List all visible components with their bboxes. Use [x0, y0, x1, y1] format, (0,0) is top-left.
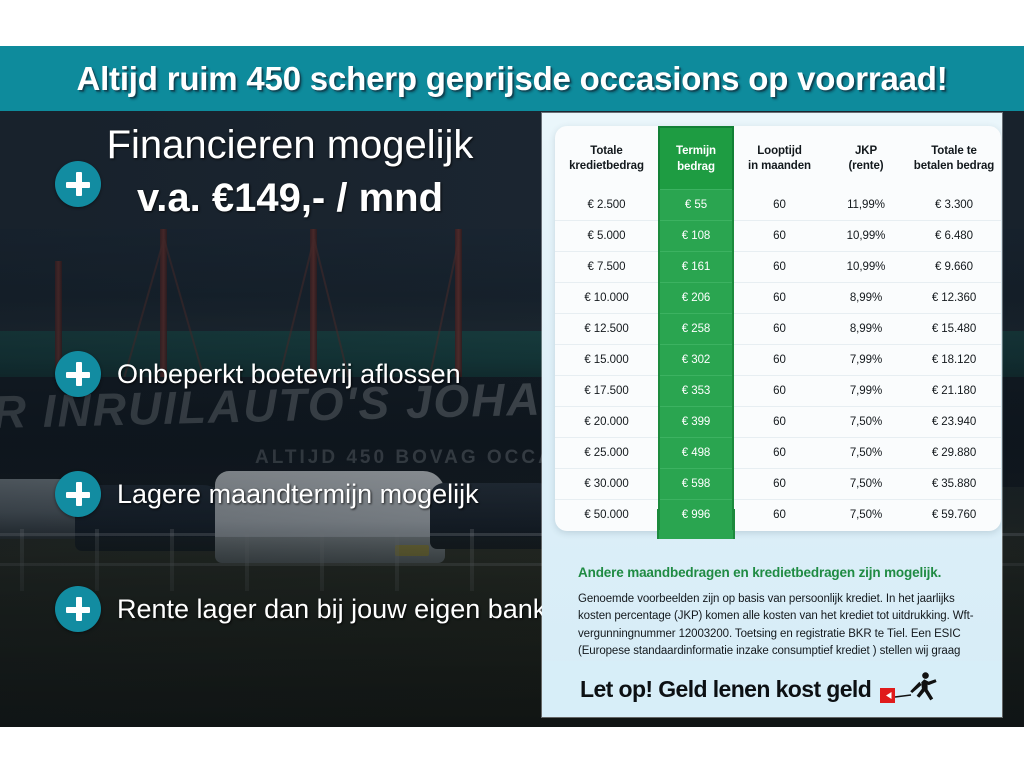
left-content-column: Financieren mogelijk v.a. €149,- / mnd O… [0, 111, 540, 727]
legal-warning-text: Let op! Geld lenen kost geld [580, 676, 871, 703]
header-line-top: Looptijd [757, 145, 802, 157]
table-row: € 2.500€ 556011,99%€ 3.300 [555, 190, 1001, 221]
table-cell: 11,99% [825, 190, 907, 221]
plus-icon [55, 586, 101, 632]
table-cell: 60 [733, 190, 825, 221]
rate-table-card: Totale kredietbedrag Termijn bedrag Loop… [555, 126, 1001, 531]
table-cell: 7,50% [825, 407, 907, 438]
cell-termijnbedrag: € 498 [659, 438, 733, 469]
cell-termijnbedrag: € 161 [659, 252, 733, 283]
plus-icon [55, 161, 101, 207]
bullet-item-aflossen: Onbeperkt boetevrij aflossen [55, 351, 461, 397]
column-header-kredietbedrag: Totale kredietbedrag [555, 127, 659, 190]
table-cell: 10,99% [825, 252, 907, 283]
table-cell: 7,99% [825, 345, 907, 376]
cell-termijnbedrag: € 258 [659, 314, 733, 345]
table-cell: € 59.760 [907, 500, 1001, 531]
table-cell: € 9.660 [907, 252, 1001, 283]
table-row: € 10.000€ 206608,99%€ 12.360 [555, 283, 1001, 314]
table-row: € 17.500€ 353607,99%€ 21.180 [555, 376, 1001, 407]
table-cell: € 23.940 [907, 407, 1001, 438]
table-cell: 7,50% [825, 469, 907, 500]
table-cell: € 29.880 [907, 438, 1001, 469]
table-cell: € 15.000 [555, 345, 659, 376]
header-line-bottom: (rente) [848, 160, 883, 172]
table-cell: € 6.480 [907, 221, 1001, 252]
header-line-bottom: bedrag [677, 161, 715, 173]
table-cell: € 50.000 [555, 500, 659, 531]
table-cell: € 30.000 [555, 469, 659, 500]
cell-termijnbedrag: € 302 [659, 345, 733, 376]
page-title: Financieren mogelijk v.a. €149,- / mnd [55, 123, 525, 222]
poster-canvas: Altijd ruim 450 scherp geprijsde occasio… [0, 0, 1024, 768]
table-cell: 60 [733, 314, 825, 345]
table-cell: 7,50% [825, 500, 907, 531]
table-cell: € 15.480 [907, 314, 1001, 345]
table-row: € 25.000€ 498607,50%€ 29.880 [555, 438, 1001, 469]
column-header-totaal: Totale te betalen bedrag [907, 127, 1001, 190]
table-cell: € 17.500 [555, 376, 659, 407]
table-cell: 60 [733, 221, 825, 252]
rate-table: Totale kredietbedrag Termijn bedrag Loop… [555, 126, 1001, 530]
table-cell: € 12.500 [555, 314, 659, 345]
cell-termijnbedrag: € 996 [659, 500, 733, 531]
table-cell: € 18.120 [907, 345, 1001, 376]
table-cell: 60 [733, 407, 825, 438]
table-cell: € 21.180 [907, 376, 1001, 407]
banner-headline: Altijd ruim 450 scherp geprijsde occasio… [76, 60, 947, 98]
header-line-top: Totale [590, 145, 622, 157]
cell-termijnbedrag: € 598 [659, 469, 733, 500]
table-cell: 10,99% [825, 221, 907, 252]
bullet-label: Lagere maandtermijn mogelijk [117, 479, 479, 510]
column-header-looptijd: Looptijd in maanden [733, 127, 825, 190]
disclaimer-title: Andere maandbedragen en kredietbedragen … [578, 565, 978, 580]
table-cell: € 25.000 [555, 438, 659, 469]
header-line-bottom: in maanden [748, 160, 811, 172]
table-cell: 60 [733, 252, 825, 283]
bullet-label: Rente lager dan bij jouw eigen bank [117, 594, 546, 625]
table-row: € 12.500€ 258608,99%€ 15.480 [555, 314, 1001, 345]
table-cell: € 35.880 [907, 469, 1001, 500]
cell-termijnbedrag: € 399 [659, 407, 733, 438]
cell-termijnbedrag: € 55 [659, 190, 733, 221]
table-cell: 60 [733, 469, 825, 500]
column-header-jkp: JKP (rente) [825, 127, 907, 190]
headline-line-2: v.a. €149,- / mnd [55, 174, 525, 222]
bottom-white-strip [0, 727, 1024, 768]
cell-termijnbedrag: € 108 [659, 221, 733, 252]
table-row: € 20.000€ 399607,50%€ 23.940 [555, 407, 1001, 438]
header-line-top: Totale te [931, 145, 977, 157]
table-cell: 8,99% [825, 314, 907, 345]
table-cell: 60 [733, 500, 825, 531]
finance-info-panel: Totale kredietbedrag Termijn bedrag Loop… [542, 113, 1002, 717]
table-row: € 30.000€ 598607,50%€ 35.880 [555, 469, 1001, 500]
header-line-bottom: betalen bedrag [914, 160, 994, 172]
plus-icon [55, 351, 101, 397]
bullet-item-maandtermijn: Lagere maandtermijn mogelijk [55, 471, 479, 517]
header-line-top: JKP [855, 145, 877, 157]
legal-warning-bar: Let op! Geld lenen kost geld [542, 661, 1002, 717]
headline-line-1: Financieren mogelijk [55, 123, 525, 168]
plus-icon [55, 471, 101, 517]
table-cell: € 3.300 [907, 190, 1001, 221]
table-header-row: Totale kredietbedrag Termijn bedrag Loop… [555, 127, 1001, 190]
bullet-item-rente: Rente lager dan bij jouw eigen bank [55, 586, 546, 632]
column-header-termijnbedrag: Termijn bedrag [659, 127, 733, 190]
table-cell: € 20.000 [555, 407, 659, 438]
table-cell: € 2.500 [555, 190, 659, 221]
table-row: € 15.000€ 302607,99%€ 18.120 [555, 345, 1001, 376]
table-cell: 60 [733, 345, 825, 376]
table-cell: 8,99% [825, 283, 907, 314]
table-cell: € 10.000 [555, 283, 659, 314]
table-cell: 60 [733, 376, 825, 407]
top-banner: Altijd ruim 450 scherp geprijsde occasio… [0, 46, 1024, 111]
cell-termijnbedrag: € 353 [659, 376, 733, 407]
table-cell: 7,50% [825, 438, 907, 469]
table-cell: 60 [733, 438, 825, 469]
bullet-label: Onbeperkt boetevrij aflossen [117, 359, 461, 390]
cell-termijnbedrag: € 206 [659, 283, 733, 314]
header-line-bottom: kredietbedrag [569, 160, 644, 172]
table-cell: 60 [733, 283, 825, 314]
table-cell: € 5.000 [555, 221, 659, 252]
table-cell: € 7.500 [555, 252, 659, 283]
table-row: € 7.500€ 1616010,99%€ 9.660 [555, 252, 1001, 283]
table-row: € 50.000€ 996607,50%€ 59.760 [555, 500, 1001, 531]
afm-geld-lenen-kost-geld-icon [880, 672, 938, 706]
table-row: € 5.000€ 1086010,99%€ 6.480 [555, 221, 1001, 252]
rate-table-body: € 2.500€ 556011,99%€ 3.300€ 5.000€ 10860… [555, 190, 1001, 531]
bullet-item-financieren [55, 161, 101, 207]
table-cell: 7,99% [825, 376, 907, 407]
table-cell: € 12.360 [907, 283, 1001, 314]
header-line-top: Termijn [676, 145, 716, 157]
